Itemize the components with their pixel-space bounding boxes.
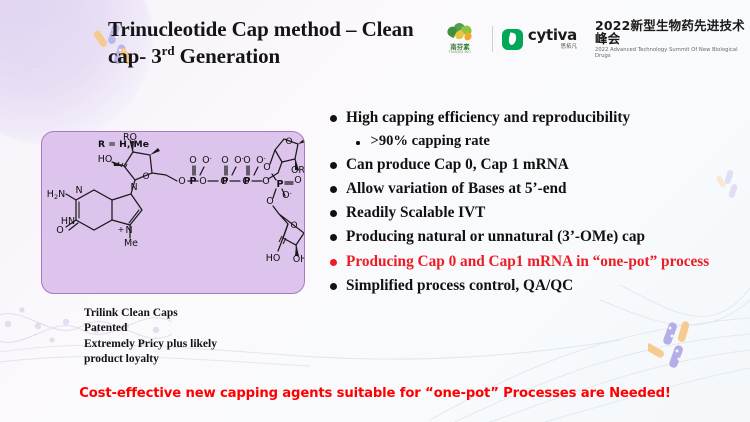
- summit-title-en: 2022 Advanced Technology Summit Of New B…: [595, 47, 750, 59]
- label-o-double: O: [294, 175, 301, 186]
- bullet-text: Can produce Cap 0, Cap 1 mRNA: [346, 155, 569, 174]
- bullet-dot-icon: [330, 186, 337, 193]
- caption-line-1: Trilink Clean Caps: [84, 306, 217, 321]
- bullet-list: High capping efficiency and reproducibil…: [330, 108, 742, 300]
- chromosome-decor-bottom-right: [648, 318, 704, 374]
- partner-logo: 南芬素 TIANJIN BIO: [437, 23, 483, 54]
- label-base-1: B1: [304, 136, 305, 148]
- logo-bar: 南芬素 TIANJIN BIO cytiva 思拓凡 2022新型生物药先进技术…: [437, 19, 750, 59]
- bullet-item: Allow variation of Bases at 5’-end: [330, 179, 742, 198]
- bullet-text: Simplified process control, QA/QC: [346, 276, 573, 295]
- label-p-beta: P: [222, 176, 229, 187]
- label-n7: N: [125, 225, 132, 236]
- label-n7-charge: +: [118, 225, 125, 234]
- label-o-bridge-1: O: [178, 176, 185, 187]
- label-o-bridge-2: O: [199, 176, 206, 187]
- caption-line-2: Patented: [84, 321, 217, 336]
- bullet-text: Allow variation of Bases at 5’-end: [346, 179, 567, 198]
- label-ho-bottom: HO: [266, 253, 281, 264]
- label-o-3prime: O: [263, 162, 270, 173]
- summit-title-cn: 2022新型生物药先进技术峰会: [595, 19, 750, 45]
- bullet-item: Readily Scalable IVT: [330, 203, 742, 222]
- presentation-slide: Trinucleotide Cap method – Clean cap- 3r…: [0, 0, 750, 422]
- label-o-gamma: O: [243, 155, 250, 166]
- title-line-1: Trinucleotide Cap method – Clean: [108, 17, 414, 41]
- cytiva-logo: cytiva 思拓凡: [502, 28, 577, 51]
- bullet-dot-icon: [330, 234, 337, 241]
- bullet-dot-icon: [330, 259, 337, 266]
- title-line-2-prefix: cap- 3: [108, 44, 162, 68]
- label-o-5prime: O: [266, 196, 273, 207]
- label-o-anion-internal: O-: [282, 190, 292, 201]
- footer-callout: Cost-effective new capping agents suitab…: [0, 386, 750, 401]
- slide-title: Trinucleotide Cap method – Clean cap- 3r…: [108, 16, 438, 70]
- title-ordinal-suffix: rd: [162, 43, 175, 58]
- flower-logo-icon: [445, 23, 475, 43]
- bullet-item: Producing natural or unnatural (3’-OMe) …: [330, 227, 742, 246]
- bullet-item-sub: >90% capping rate: [356, 132, 742, 150]
- caption-line-4: product loyalty: [84, 352, 217, 367]
- bullet-dot-icon: [330, 210, 337, 217]
- summit-logo: 2022新型生物药先进技术峰会 2022 Advanced Technology…: [595, 19, 750, 60]
- label-o-ring-2: O: [285, 137, 292, 147]
- bullet-text: High capping efficiency and reproducibil…: [346, 108, 630, 127]
- label-amine: H2N: [47, 189, 65, 201]
- bullet-dot-icon: [330, 115, 337, 122]
- bullet-item-highlighted: Producing Cap 0 and Cap1 mRNA in “one-po…: [330, 252, 742, 271]
- label-methyl: Me: [124, 238, 138, 249]
- label-o-alpha: O: [189, 155, 196, 166]
- bullet-dot-icon: [330, 283, 337, 290]
- label-oh-bottom: OH: [293, 254, 305, 265]
- label-o-ring-3: O: [290, 221, 297, 231]
- structure-caption: Trilink Clean Caps Patented Extremely Pr…: [84, 306, 217, 367]
- label-n9: N: [130, 182, 137, 193]
- label-p-alpha: P: [190, 176, 197, 187]
- bullet-item: Simplified process control, QA/QC: [330, 276, 742, 295]
- label-o-ring-left: O: [142, 172, 149, 182]
- label-o-bridge-5: O: [262, 176, 269, 187]
- cytiva-logo-name: cytiva: [528, 28, 577, 43]
- bullet-dot-icon: [356, 141, 360, 145]
- bullet-text: Readily Scalable IVT: [346, 203, 485, 222]
- bullet-item: Can produce Cap 0, Cap 1 mRNA: [330, 155, 742, 174]
- label-o-beta: O: [221, 155, 228, 166]
- bullet-item: High capping efficiency and reproducibil…: [330, 108, 742, 127]
- label-p-gamma: P: [244, 176, 251, 187]
- trinucleotide-cap-structure: H2N N HN O N + Me N HO RO O O O O O O P …: [42, 132, 305, 294]
- logo-divider: [492, 26, 493, 52]
- caption-line-3: Extremely Pricy plus likely: [84, 337, 217, 352]
- label-n1: N: [75, 185, 82, 196]
- label-o-keto: O: [56, 225, 63, 236]
- cytiva-logo-name-cn: 思拓凡: [560, 45, 577, 51]
- cytiva-droplet-icon: [502, 29, 523, 50]
- bullet-dot-icon: [330, 162, 337, 169]
- r-group-definition: R = H, Me: [98, 139, 149, 150]
- partner-logo-name-en: TIANJIN BIO: [449, 51, 472, 55]
- label-ho-left: HO: [98, 154, 113, 165]
- chemical-structure-box: H2N N HN O N + Me N HO RO O O O O O O P …: [41, 131, 305, 294]
- bullet-text: Producing Cap 0 and Cap1 mRNA in “one-po…: [346, 252, 709, 271]
- label-o-alpha-anion: O-: [202, 155, 212, 166]
- bullet-text: Producing natural or unnatural (3’-OMe) …: [346, 227, 645, 246]
- title-line-2-suffix: Generation: [174, 44, 280, 68]
- label-p-internal: P: [277, 179, 284, 190]
- bullet-text: >90% capping rate: [371, 132, 490, 150]
